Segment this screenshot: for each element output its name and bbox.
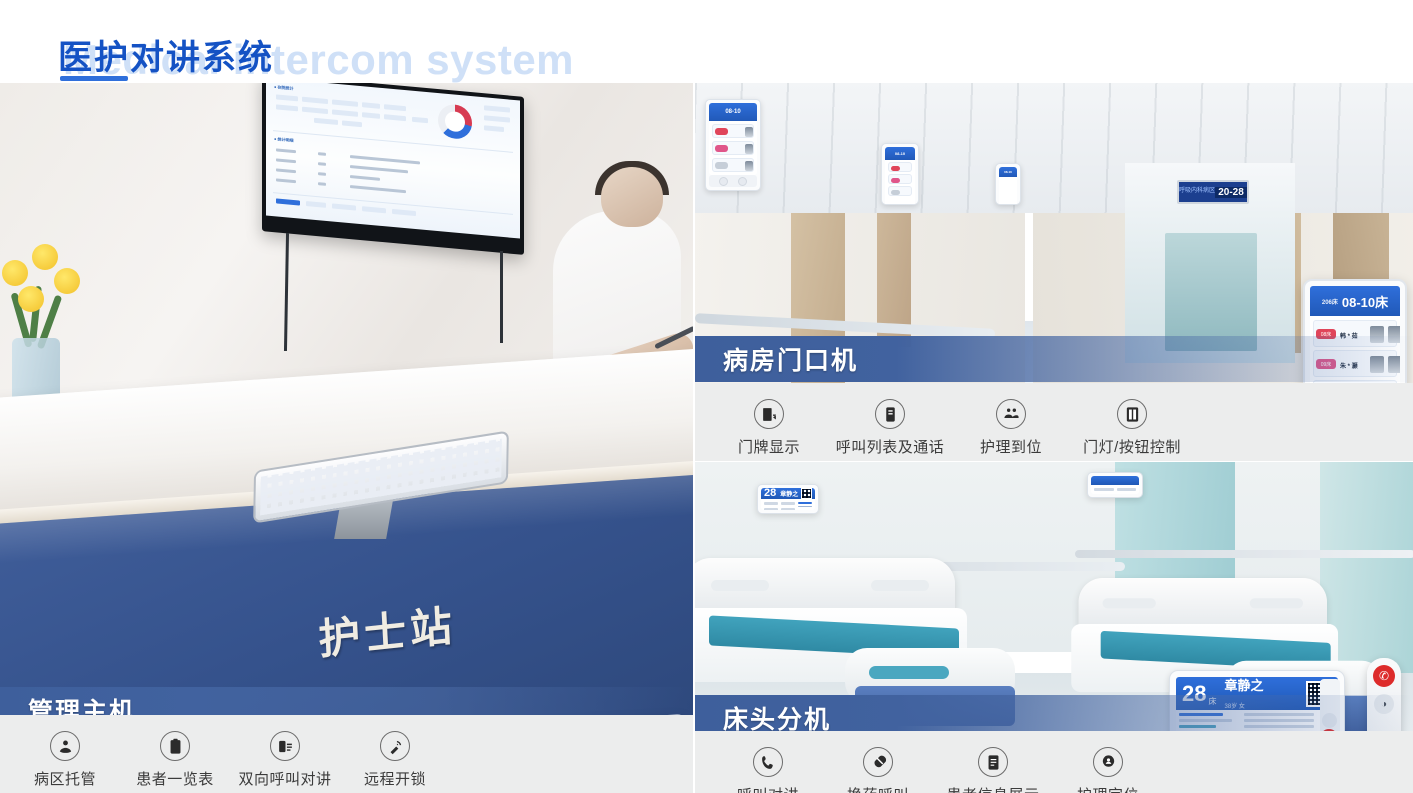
feature-item[interactable]: 患者信息展示 <box>933 747 1053 793</box>
feature-item[interactable]: 病区托管 <box>10 731 120 789</box>
display-stand-right <box>500 251 503 343</box>
feature-label: 远程开锁 <box>340 768 450 789</box>
door-plate-icon <box>754 399 784 429</box>
led-sign-zone: 呼吸内科病区 <box>1179 188 1215 196</box>
nurse-locate-icon <box>1093 747 1123 777</box>
feature-label: 护理到位 <box>955 436 1067 457</box>
feature-label: 门灯/按钮控制 <box>1067 436 1197 457</box>
call-list-icon <box>875 399 905 429</box>
door-light-icon <box>1117 399 1147 429</box>
feature-item[interactable]: 门灯/按钮控制 <box>1067 399 1197 457</box>
feature-item[interactable]: 护理定位 <box>1053 747 1163 793</box>
feature-label: 呼叫列表及通话 <box>825 436 955 457</box>
donut-chart <box>438 103 472 140</box>
patient-name: 章静之 <box>1224 678 1263 693</box>
feature-item[interactable]: 双向呼叫对讲 <box>230 731 340 789</box>
feature-item[interactable]: 患者一览表 <box>120 731 230 789</box>
door-station-device: 08-10 <box>881 143 919 205</box>
wall-rail <box>1075 550 1413 558</box>
user-care-icon <box>50 731 80 761</box>
feature-label: 门牌显示 <box>713 436 825 457</box>
corridor-led-sign: 呼吸内科病区 20-28 <box>1177 180 1249 204</box>
feature-item[interactable]: 远程开锁 <box>340 731 450 789</box>
feature-item[interactable]: 呼叫对讲 <box>713 747 823 793</box>
panel-door-header: 病房门口机 <box>695 336 1413 382</box>
feature-item[interactable]: 换药呼叫 <box>823 747 933 793</box>
door-display-beds: 08-10床 <box>1342 292 1388 311</box>
medicine-call-icon <box>863 747 893 777</box>
panel-door-feature-strip: 门牌显示 呼叫列表及通话 护理到位 门灯/按钮控制 <box>695 383 1413 461</box>
panel-door-title: 病房门口机 <box>723 341 858 377</box>
title-underline-rule <box>60 76 128 81</box>
door-display-room: 206床 <box>1322 297 1338 306</box>
page-title: 医护对讲系统 <box>58 30 274 79</box>
corridor-end-door <box>1165 233 1257 351</box>
panel-admin-feature-strip: 病区托管 患者一览表 双向呼叫对讲 远程开锁 <box>0 715 693 793</box>
bedside-unit-device <box>1087 472 1143 498</box>
patient-info-icon <box>978 747 1008 777</box>
feature-label: 患者一览表 <box>120 768 230 789</box>
door-station-device: 08-10 <box>995 163 1021 205</box>
feature-label: 呼叫对讲 <box>713 784 823 793</box>
feature-label: 患者信息展示 <box>933 784 1053 793</box>
led-sign-rooms: 20-28 <box>1215 187 1247 198</box>
hospital-bed <box>695 558 975 708</box>
wall-display: ● 在院统计 <box>262 83 524 255</box>
bedside-unit-device: 28 章静之 <box>757 484 819 514</box>
clipboard-icon <box>160 731 190 761</box>
panel-bedside-unit: 28 章静之 <box>695 462 1413 793</box>
wall-display-screen: ● 在院统计 <box>266 83 520 239</box>
feature-item[interactable]: 门牌显示 <box>713 399 825 457</box>
remote-unlock-icon <box>380 731 410 761</box>
feature-item[interactable]: 呼叫列表及通话 <box>825 399 955 457</box>
nurse-presence-icon <box>996 399 1026 429</box>
panel-admin-host: ● 在院统计 <box>0 83 693 793</box>
slide-root: Medical intercom system 医护对讲系统 ● 在院统计 <box>0 0 1413 793</box>
door-station-device: 08-10 <box>705 99 761 191</box>
phone-icon <box>753 747 783 777</box>
feature-label: 换药呼叫 <box>823 784 933 793</box>
two-way-intercom-icon <box>270 731 300 761</box>
panel-door-station: 呼吸内科病区 20-28 08-10 08-10 <box>695 83 1413 461</box>
feature-label: 双向呼叫对讲 <box>230 768 340 789</box>
feature-label: 病区托管 <box>10 768 120 789</box>
panel-bed-feature-strip: 呼叫对讲 换药呼叫 患者信息展示 护理定位 <box>695 731 1413 793</box>
feature-label: 护理定位 <box>1053 784 1163 793</box>
phone-icon: ✆ <box>1373 665 1395 687</box>
feature-item[interactable]: 护理到位 <box>955 399 1067 457</box>
